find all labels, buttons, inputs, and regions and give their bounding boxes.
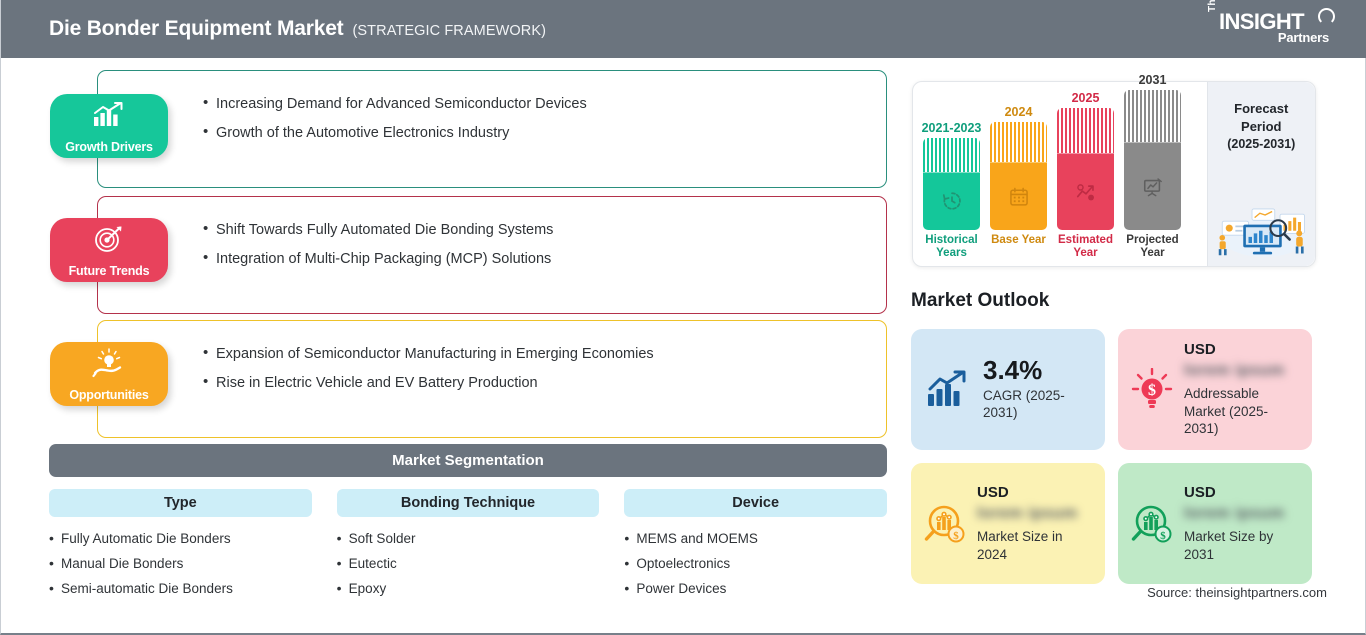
- svg-text:$: $: [1148, 382, 1156, 399]
- segmentation-column-title: Bonding Technique: [401, 495, 535, 511]
- outlook-card-body: USD lorem ipsum Market Size in 2024: [977, 484, 1095, 563]
- market-segmentation-title: Market Segmentation: [392, 452, 544, 469]
- bar-year-label: 2031: [1139, 73, 1167, 87]
- logo-partners-text: Partners: [1278, 30, 1329, 45]
- driver-box-opportunities: Expansion of Semiconductor Manufacturing…: [97, 320, 887, 438]
- outlook-card-addressable-market[interactable]: $ USD lorem ipsum Addressable Market (20…: [1118, 329, 1312, 450]
- presentation-chart-icon: [1142, 176, 1164, 198]
- timeline-bar-base[interactable]: 2024: [990, 105, 1047, 230]
- forecast-period-range: (2025-2031): [1208, 137, 1315, 151]
- logo-ring-icon: [1318, 8, 1335, 25]
- outlook-card-body: USD lorem ipsum Market Size by 2031: [1184, 484, 1302, 563]
- year-timeline-panel: 2021-2023 Historical Years: [912, 81, 1316, 267]
- list-item: Semi-automatic Die Bonders: [49, 581, 312, 597]
- market-size-2031-label: Market Size by 2031: [1184, 528, 1302, 563]
- currency-label: USD: [1184, 341, 1302, 358]
- bar-year-label: 2025: [1072, 91, 1100, 105]
- insight-partners-logo[interactable]: The INSIGHT Partners: [1205, 8, 1337, 52]
- segmentation-column-title: Device: [732, 495, 779, 511]
- driver-bullets-trends: Shift Towards Fully Automated Die Bondin…: [98, 197, 886, 268]
- bar-caption: Projected Year: [1118, 234, 1187, 260]
- outlook-card-body: USD lorem ipsum Addressable Market (2025…: [1184, 341, 1302, 438]
- driver-box-future-trends: Shift Towards Fully Automated Die Bondin…: [97, 196, 887, 314]
- segmentation-column-bonding-technique: Bonding Technique Soft Solder Eutectic E…: [337, 489, 600, 607]
- bullet-item: Increasing Demand for Advanced Semicondu…: [203, 95, 886, 113]
- svg-text:$: $: [1160, 530, 1166, 542]
- segmentation-column-header[interactable]: Bonding Technique: [337, 489, 600, 517]
- magnifier-chart-dollar-orange-icon: $: [921, 502, 969, 546]
- badge-opportunities[interactable]: Opportunities: [50, 342, 168, 406]
- badge-growth-drivers[interactable]: Growth Drivers: [50, 94, 168, 158]
- list-item: Power Devices: [624, 581, 887, 597]
- driver-bullets-opportunities: Expansion of Semiconductor Manufacturing…: [98, 321, 886, 392]
- segmentation-column-device: Device MEMS and MOEMS Optoelectronics Po…: [624, 489, 887, 607]
- calendar-icon: [1008, 186, 1030, 208]
- page-subtitle: (STRATEGIC FRAMEWORK): [352, 23, 546, 39]
- badge-future-trends[interactable]: Future Trends: [50, 218, 168, 282]
- lightbulb-dollar-icon: $: [1128, 368, 1176, 412]
- segmentation-column-header[interactable]: Type: [49, 489, 312, 517]
- bar-caption: Historical Years: [917, 234, 986, 260]
- badge-label: Future Trends: [69, 265, 150, 278]
- right-column: 2021-2023 Historical Years: [901, 58, 1366, 635]
- timeline-bar-projected[interactable]: 2031 Projected Year: [1124, 73, 1181, 230]
- market-segmentation-header: Market Segmentation: [49, 444, 887, 477]
- list-item: Fully Automatic Die Bonders: [49, 531, 312, 547]
- list-item: Manual Die Bonders: [49, 556, 312, 572]
- forecast-period-line1: Forecast: [1208, 100, 1315, 118]
- timeline-bars: 2021-2023 Historical Years: [913, 82, 1207, 266]
- bullet-item: Expansion of Semiconductor Manufacturing…: [203, 345, 886, 363]
- timeline-bar-historical[interactable]: 2021-2023 Historical Years: [923, 121, 980, 230]
- redacted-value: lorem ipsum: [977, 505, 1095, 523]
- header-title-group: Die Bonder Equipment Market (STRATEGIC F…: [49, 17, 546, 41]
- outlook-card-cagr[interactable]: 3.4% CAGR (2025-2031): [911, 329, 1105, 450]
- page-header: Die Bonder Equipment Market (STRATEGIC F…: [1, 0, 1366, 58]
- analytics-illustration: [1210, 198, 1315, 260]
- market-outlook-title: Market Outlook: [911, 290, 1049, 312]
- forecast-period-line2: Period: [1208, 118, 1315, 136]
- left-column: Increasing Demand for Advanced Semicondu…: [1, 58, 901, 635]
- infographic-page: Die Bonder Equipment Market (STRATEGIC F…: [0, 0, 1366, 635]
- driver-bullets-growth: Increasing Demand for Advanced Semicondu…: [98, 71, 886, 142]
- bar-chart-arrow-icon: [921, 370, 975, 410]
- clock-history-icon: [941, 190, 963, 212]
- currency-label: USD: [1184, 484, 1302, 501]
- currency-label: USD: [977, 484, 1095, 501]
- bar-caption: Base Year: [984, 234, 1053, 247]
- outlook-card-market-size-2024[interactable]: $ USD lorem ipsum Market Size in 2024: [911, 463, 1105, 584]
- segmentation-column-title: Type: [164, 495, 197, 511]
- bar-caption: Estimated Year: [1051, 234, 1120, 260]
- segmentation-column-type: Type Fully Automatic Die Bonders Manual …: [49, 489, 312, 607]
- list-item: Eutectic: [337, 556, 600, 572]
- bar-year-label: 2024: [1005, 105, 1033, 119]
- lightbulb-hand-icon: [50, 348, 168, 378]
- magnifier-chart-dollar-green-icon: $: [1128, 502, 1176, 546]
- driver-box-growth-drivers: Increasing Demand for Advanced Semicondu…: [97, 70, 887, 188]
- list-item: Epoxy: [337, 581, 600, 597]
- source-attribution: Source: theinsightpartners.com: [1147, 585, 1327, 600]
- redacted-value: lorem ipsum: [1184, 505, 1302, 523]
- bar-year-label: 2021-2023: [922, 121, 982, 135]
- list-item: Soft Solder: [337, 531, 600, 547]
- bullet-item: Integration of Multi-Chip Packaging (MCP…: [203, 250, 886, 268]
- svg-text:$: $: [953, 530, 959, 542]
- cagr-label: CAGR (2025-2031): [983, 387, 1095, 422]
- outlook-card-market-size-2031[interactable]: $ USD lorem ipsum Market Size by 2031: [1118, 463, 1312, 584]
- bullet-item: Growth of the Automotive Electronics Ind…: [203, 124, 886, 142]
- page-title: Die Bonder Equipment Market: [49, 17, 343, 41]
- segmentation-column-header[interactable]: Device: [624, 489, 887, 517]
- bullet-item: Shift Towards Fully Automated Die Bondin…: [203, 221, 886, 239]
- addressable-market-label: Addressable Market (2025-2031): [1184, 385, 1302, 438]
- list-item: Optoelectronics: [624, 556, 887, 572]
- market-size-2024-label: Market Size in 2024: [977, 528, 1095, 563]
- target-dart-icon: [50, 224, 168, 254]
- timeline-bar-estimated[interactable]: 2025 Estimated Year: [1057, 91, 1114, 230]
- segmentation-columns: Type Fully Automatic Die Bonders Manual …: [49, 489, 887, 607]
- bar-chart-growth-icon: [50, 100, 168, 130]
- market-outlook-cards: 3.4% CAGR (2025-2031) $: [911, 329, 1321, 584]
- badge-label: Growth Drivers: [65, 141, 153, 154]
- forecast-period-panel: Forecast Period (2025-2031): [1207, 82, 1315, 266]
- cagr-value: 3.4%: [983, 357, 1095, 384]
- logo-the-text: The: [1207, 0, 1218, 12]
- badge-label: Opportunities: [69, 389, 148, 402]
- redacted-value: lorem ipsum: [1184, 362, 1302, 380]
- list-item: MEMS and MOEMS: [624, 531, 887, 547]
- forecast-chart-icon: [1075, 181, 1097, 203]
- bullet-item: Rise in Electric Vehicle and EV Battery …: [203, 374, 886, 392]
- outlook-card-body: 3.4% CAGR (2025-2031): [983, 357, 1095, 421]
